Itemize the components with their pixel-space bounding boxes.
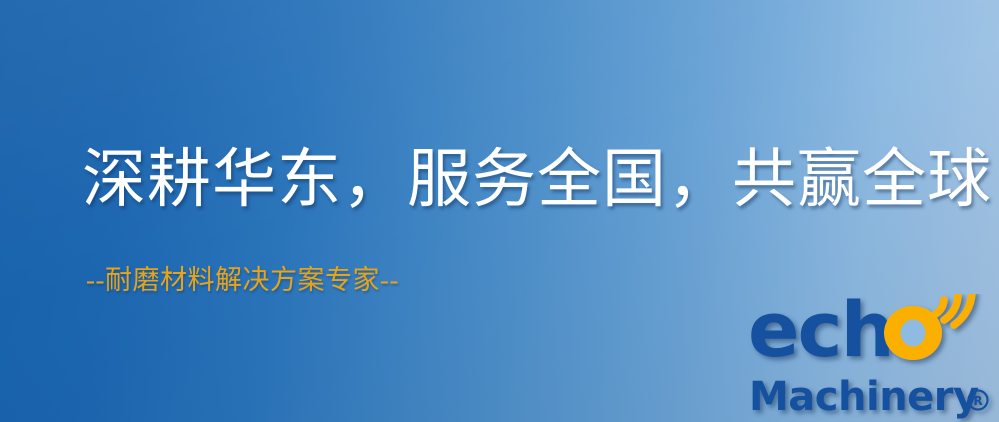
logo-tagline: Machinery: [749, 374, 979, 420]
banner-headline: 深耕华东，服务全国，共赢全球: [82, 148, 992, 212]
svg-text:ech: ech: [748, 294, 893, 374]
banner-subtitle: --耐磨材料解决方案专家--: [86, 267, 399, 294]
echo-machinery-logo: ech Machinery R: [748, 294, 999, 422]
hero-banner: 深耕华东，服务全国，共赢全球 --耐磨材料解决方案专家-- ech: [0, 0, 999, 422]
svg-text:R: R: [973, 394, 982, 408]
logo-wordmark-echo: ech Machinery R: [748, 294, 988, 420]
logo-signal-arcs: [934, 294, 972, 325]
